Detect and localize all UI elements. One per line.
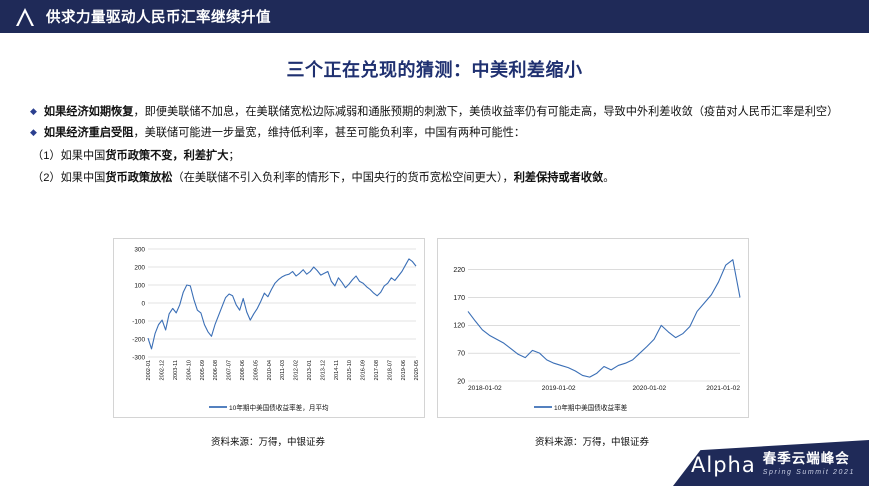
chart-left-ytick: -100	[132, 318, 145, 325]
content-body: ◆ 如果经济如期恢复，即便美联储不加息，在美联储宽松边际减弱和通胀预期的刺激下，…	[30, 104, 842, 192]
numbered-item-1-bold: 货币政策不变，利差扩大	[105, 150, 228, 162]
chart-left-xtick: 2006-08	[213, 360, 219, 381]
chart-left-xtick: 2019-06	[401, 360, 407, 381]
numbered-item-1-suffix: ；	[228, 150, 239, 162]
chart-left-xtick: 2002-12	[160, 360, 166, 381]
chart-left-xtick: 2003-11	[173, 360, 179, 380]
numbered-item-2-mid: （在美联储不引入负利率的情形下，中国央行的货币宽松空间更大），	[173, 172, 514, 184]
numbered-item-2-suffix: 。	[603, 172, 614, 184]
chart-left-xtick: 2014-11	[334, 360, 340, 380]
chart-right-series-line	[468, 260, 740, 377]
chart-left-xtick: 2013-01	[307, 360, 313, 381]
chart-right-ytick: 70	[457, 351, 465, 358]
summit-logo-cn: 春季云端峰会	[763, 452, 855, 466]
bullet-item-2-text: 如果经济重启受阻，美联储可能进一步量宽，维持低利率，甚至可能负利率，中国有两种可…	[44, 125, 842, 142]
summit-logo-alpha: Alpha	[691, 455, 756, 476]
bullet-item-1-bold: 如果经济如期恢复	[44, 106, 134, 118]
chart-left-xtick-labels: 2002-012002-122003-112004-102005-092006-…	[146, 360, 420, 381]
chart-left-xtick: 2005-09	[200, 360, 206, 381]
chart-right-xtick: 2019-01-02	[542, 385, 576, 392]
chart-right-ytick: 120	[453, 323, 465, 330]
chart-left-ytick: -300	[132, 354, 145, 361]
chart-left-series-line	[148, 259, 416, 349]
chart-left-xtick: 2007-07	[227, 360, 233, 381]
numbered-item-2-bold: 货币政策放松	[105, 172, 172, 184]
chart-left-xtick: 2016-09	[361, 360, 367, 381]
chart-left-xtick: 2011-03	[280, 360, 286, 380]
chart-left-ytick-labels: 3002001000-100-200-300	[132, 246, 145, 361]
chart-left-ytick: 200	[134, 264, 145, 271]
header-title: 供求力量驱动人民币汇率继续升值	[46, 6, 271, 27]
chart-right-ytick-labels: 2201701207020	[453, 267, 465, 385]
chart-left-xtick: 2009-05	[253, 360, 259, 381]
chart-left-xtick: 2015-10	[347, 360, 353, 381]
chart-left-xtick: 2008-06	[240, 360, 246, 381]
numbered-item-2-bold-tail: 利差保持或者收敛	[514, 172, 604, 184]
chart-right-legend: 10年期中美国债收益率差	[534, 403, 628, 412]
chart-right-legend-label: 10年期中美国债收益率差	[554, 403, 628, 412]
chart-left-xtick: 2012-02	[294, 360, 300, 381]
numbered-item-2-prefix: （2）如果中国	[32, 172, 105, 184]
chart-left-legend: 10年期中美国债收益率差，月平均	[209, 403, 329, 412]
summit-logo-inner: Alpha 春季云端峰会 Spring Summit 2021	[691, 452, 855, 476]
chart-right-svg: 2201701207020 2018-01-022019-01-022020-0…	[438, 239, 748, 417]
numbered-item-1-prefix: （1）如果中国	[32, 150, 105, 162]
chart-left-ytick: -200	[132, 336, 145, 343]
chart-left-legend-label: 10年期中美国债收益率差，月平均	[229, 403, 329, 412]
chart-right-ytick: 20	[457, 378, 465, 385]
diamond-bullet-icon: ◆	[30, 104, 37, 120]
bullet-item-1-rest: ，即便美联储不加息，在美联储宽松边际减弱和通胀预期的刺激下，美债收益率仍有可能走…	[133, 106, 838, 118]
chart-right-xtick-labels: 2018-01-022019-01-022020-01-022021-01-02	[468, 385, 740, 392]
chart-left-svg: 3002001000-100-200-300 2002-012002-12200…	[114, 239, 424, 417]
chart-right-xtick: 2021-01-02	[706, 385, 740, 392]
slide-header-bar: 供求力量驱动人民币汇率继续升值	[0, 0, 869, 33]
chart-right-gridlines	[468, 270, 740, 381]
chart-left-container: 3002001000-100-200-300 2002-012002-12200…	[113, 238, 425, 418]
chart-left-xtick: 2013-12	[320, 360, 326, 381]
page-title: 三个正在兑现的猜测：中美利差缩小	[0, 56, 869, 82]
chart-left-xtick: 2018-07	[387, 360, 393, 381]
chart-left-xtick: 2010-04	[267, 360, 273, 381]
alpha-triangle-icon	[8, 0, 42, 33]
chart-left-source: 资料来源：万得，中银证券	[113, 434, 423, 448]
diamond-bullet-icon: ◆	[30, 125, 37, 141]
chart-right-container: 2201701207020 2018-01-022019-01-022020-0…	[437, 238, 749, 418]
chart-right-xtick: 2020-01-02	[632, 385, 666, 392]
chart-left-xtick: 2004-10	[186, 360, 192, 381]
bullet-item-2-bold: 如果经济重启受阻	[44, 127, 134, 139]
chart-left-xtick: 2020-05	[414, 360, 420, 381]
chart-right-xtick: 2018-01-02	[468, 385, 502, 392]
chart-right-ytick: 170	[453, 295, 465, 302]
summit-logo: Alpha 春季云端峰会 Spring Summit 2021	[673, 440, 869, 486]
chart-left-ytick: 0	[141, 300, 145, 307]
chart-left-ytick: 300	[134, 246, 145, 253]
chart-right-ytick: 220	[453, 267, 465, 274]
summit-logo-text: 春季云端峰会 Spring Summit 2021	[763, 452, 855, 476]
bullet-item-1-text: 如果经济如期恢复，即便美联储不加息，在美联储宽松边际减弱和通胀预期的刺激下，美债…	[44, 104, 842, 121]
summit-logo-en: Spring Summit 2021	[763, 469, 855, 476]
chart-left-gridlines	[148, 249, 416, 357]
numbered-item-2: （2）如果中国货币政策放松（在美联储不引入负利率的情形下，中国央行的货币宽松空间…	[32, 170, 842, 187]
chart-left-xtick: 2002-01	[146, 360, 152, 381]
bullet-item-2-rest: ，美联储可能进一步量宽，维持低利率，甚至可能负利率，中国有两种可能性：	[133, 127, 525, 139]
bullet-item-1: ◆ 如果经济如期恢复，即便美联储不加息，在美联储宽松边际减弱和通胀预期的刺激下，…	[30, 104, 842, 121]
chart-left-ytick: 100	[134, 282, 145, 289]
numbered-item-1: （1）如果中国货币政策不变，利差扩大；	[32, 148, 842, 165]
bullet-item-2: ◆ 如果经济重启受阻，美联储可能进一步量宽，维持低利率，甚至可能负利率，中国有两…	[30, 125, 842, 142]
chart-left-xtick: 2017-08	[374, 360, 380, 381]
